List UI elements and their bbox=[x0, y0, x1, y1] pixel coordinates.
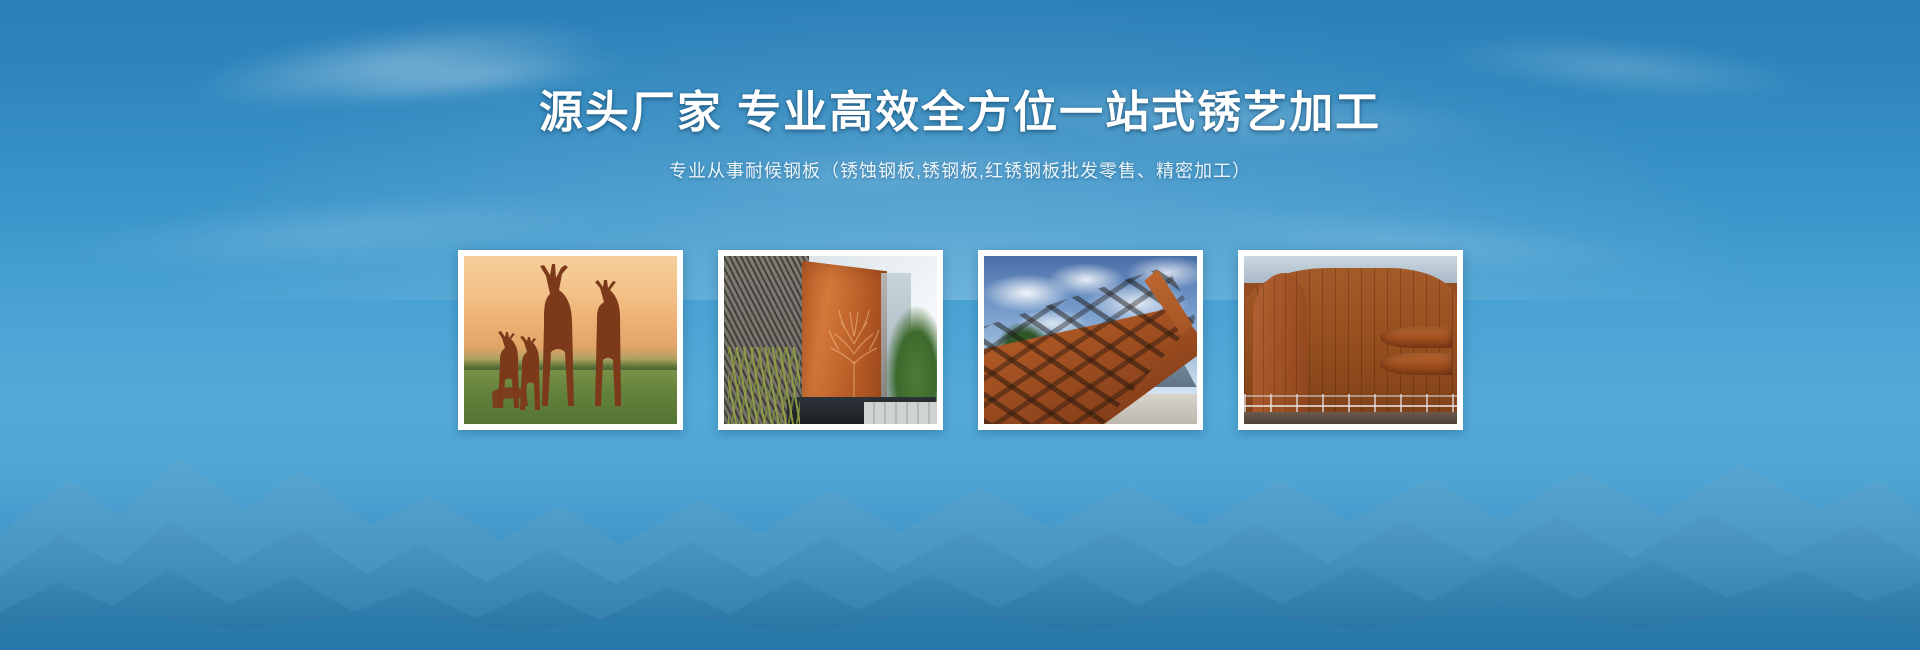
railing-bar bbox=[1244, 405, 1457, 407]
corten-tree-screen-wall-photo[interactable] bbox=[718, 250, 943, 430]
tree-cutout-pattern bbox=[819, 306, 889, 401]
railing-bar bbox=[1244, 395, 1457, 397]
corten-curved-facade-photo[interactable] bbox=[1238, 250, 1463, 430]
hero-banner: 源头厂家 专业高效全方位一站式锈艺加工 专业从事耐候钢板（锈蚀钢板,锈钢板,红锈… bbox=[0, 0, 1920, 650]
page-subtitle: 专业从事耐候钢板（锈蚀钢板,锈钢板,红锈钢板批发零售、精密加工） bbox=[0, 157, 1920, 183]
facade-lobe bbox=[1380, 327, 1452, 349]
stone-deck bbox=[864, 402, 936, 424]
corten-deer-sculpture-photo[interactable] bbox=[458, 250, 683, 430]
page-title: 源头厂家 专业高效全方位一站式锈艺加工 bbox=[0, 88, 1920, 139]
deer-silhouettes bbox=[464, 256, 677, 424]
corten-perforated-canopy-photo[interactable] bbox=[978, 250, 1203, 430]
ornamental-grasses bbox=[728, 347, 800, 424]
facade-lobe bbox=[1380, 353, 1452, 375]
foreground-ground bbox=[1244, 412, 1457, 424]
product-photo-gallery bbox=[0, 250, 1920, 430]
